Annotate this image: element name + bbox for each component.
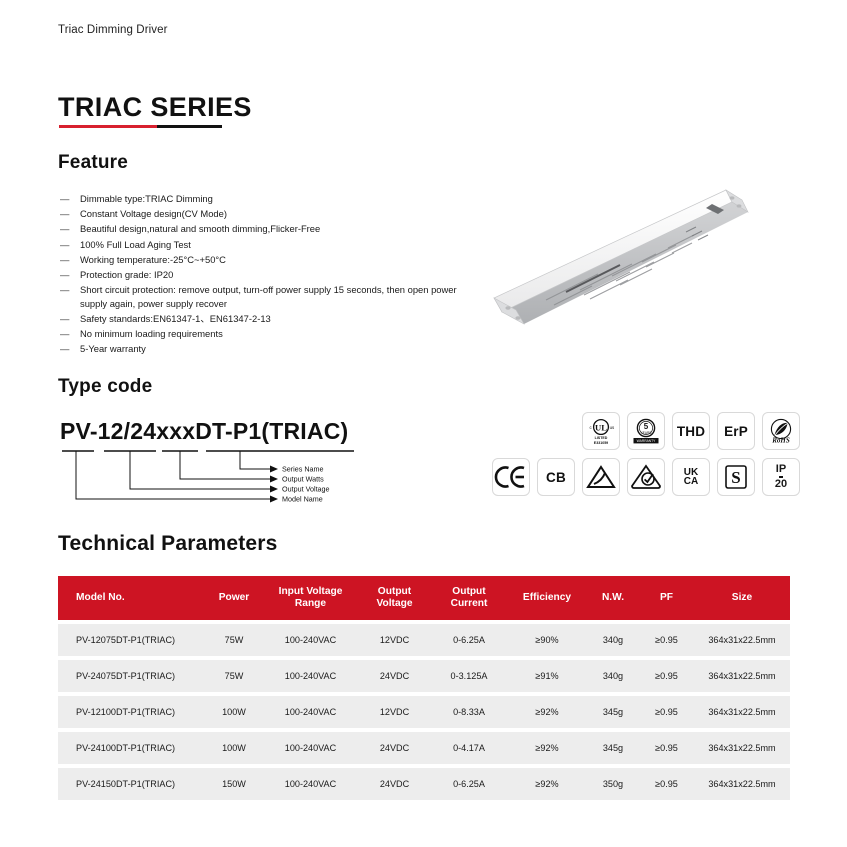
cell-power: 100W — [205, 696, 263, 728]
dash-bullet-icon: — — [60, 268, 80, 282]
feature-item-text: Constant Voltage design(CV Mode) — [80, 207, 480, 221]
cell-efficiency: ≥92% — [507, 768, 587, 800]
cell-input-voltage: 100-240VAC — [263, 624, 358, 656]
ul-listed-badge: UL c us LISTEDE331059 — [582, 412, 620, 450]
column-header-size: Size — [694, 576, 790, 620]
cell-power: 75W — [205, 660, 263, 692]
certification-row-1: UL c us LISTEDE331059 5 YEARS WARRANTY T… — [440, 412, 800, 450]
dash-bullet-icon: — — [60, 222, 80, 236]
column-header-power: Power — [205, 576, 263, 620]
dash-bullet-icon: — — [60, 238, 80, 252]
cell-input-voltage: 100-240VAC — [263, 732, 358, 764]
cell-model-no: PV-24075DT-P1(TRIAC) — [58, 660, 205, 692]
cell-pf: ≥0.95 — [639, 696, 694, 728]
feature-item-text: Protection grade: IP20 — [80, 268, 480, 282]
table-row: PV-12075DT-P1(TRIAC) 75W 100-240VAC 12VD… — [58, 624, 790, 656]
feature-list: —Dimmable type:TRIAC Dimming —Constant V… — [60, 192, 480, 357]
type-code-string: PV-12/24xxxDT-P1(TRIAC) — [60, 418, 348, 445]
title-underline-red — [59, 125, 157, 128]
cell-nw: 345g — [587, 732, 639, 764]
cell-output-voltage: 12VDC — [358, 624, 431, 656]
type-code-diagram: Series Name Output Watts Output Voltage … — [58, 448, 388, 514]
feature-item: —Beautiful design,natural and smooth dim… — [60, 222, 480, 236]
technical-parameters-heading: Technical Parameters — [58, 532, 278, 556]
table-row: PV-12100DT-P1(TRIAC) 100W 100-240VAC 12V… — [58, 696, 790, 728]
cell-model-no: PV-12075DT-P1(TRIAC) — [58, 624, 205, 656]
cell-output-voltage: 24VDC — [358, 660, 431, 692]
dash-bullet-icon: — — [60, 327, 80, 341]
feature-item: —100% Full Load Aging Test — [60, 238, 480, 252]
type-code-heading: Type code — [58, 376, 152, 398]
rcm-badge — [627, 458, 665, 496]
feature-item: —Constant Voltage design(CV Mode) — [60, 207, 480, 221]
five-year-warranty-badge: 5 YEARS WARRANTY — [627, 412, 665, 450]
table-header-row: Model No. Power Input Voltage Range Outp… — [58, 576, 790, 620]
table-row: PV-24150DT-P1(TRIAC) 150W 100-240VAC 24V… — [58, 768, 790, 800]
cell-output-current: 0-4.17A — [431, 732, 507, 764]
cell-input-voltage: 100-240VAC — [263, 696, 358, 728]
feature-item-text: Dimmable type:TRIAC Dimming — [80, 192, 480, 206]
cell-model-no: PV-24100DT-P1(TRIAC) — [58, 732, 205, 764]
svg-text:YEARS: YEARS — [641, 431, 652, 435]
feature-item: —Working temperature:-25°C~+50°C — [60, 253, 480, 267]
cell-efficiency: ≥92% — [507, 696, 587, 728]
dash-bullet-icon: — — [60, 253, 80, 267]
page-title: TRIAC SERIES — [58, 92, 252, 123]
feature-item-text: 5-Year warranty — [80, 342, 480, 356]
dash-bullet-icon: — — [60, 312, 80, 326]
cell-input-voltage: 100-240VAC — [263, 768, 358, 800]
cell-output-current: 0-8.33A — [431, 696, 507, 728]
ukca-line-2: CA — [684, 476, 698, 487]
svg-text:5: 5 — [644, 422, 649, 431]
cell-pf: ≥0.95 — [639, 732, 694, 764]
svg-text:RoHS: RoHS — [771, 436, 790, 444]
cell-size: 364x31x22.5mm — [694, 768, 790, 800]
table-row: PV-24075DT-P1(TRIAC) 75W 100-240VAC 24VD… — [58, 660, 790, 692]
cell-pf: ≥0.95 — [639, 624, 694, 656]
dash-bullet-icon: — — [60, 192, 80, 206]
feature-item-text: Safety standards:EN61347-1、EN61347-2-13 — [80, 312, 480, 326]
cell-size: 364x31x22.5mm — [694, 660, 790, 692]
cell-pf: ≥0.95 — [639, 660, 694, 692]
thd-badge: THD — [672, 412, 710, 450]
cell-output-voltage: 24VDC — [358, 768, 431, 800]
title-underline — [59, 125, 222, 128]
cell-size: 364x31x22.5mm — [694, 696, 790, 728]
cell-input-voltage: 100-240VAC — [263, 660, 358, 692]
column-header-output-current: Output Current — [431, 576, 507, 620]
cell-model-no: PV-24150DT-P1(TRIAC) — [58, 768, 205, 800]
feature-item-text: Working temperature:-25°C~+50°C — [80, 253, 480, 267]
cell-efficiency: ≥90% — [507, 624, 587, 656]
technical-parameters-table: Model No. Power Input Voltage Range Outp… — [58, 572, 790, 804]
cell-output-current: 0-6.25A — [431, 768, 507, 800]
svg-text:WARRANTY: WARRANTY — [637, 439, 657, 443]
feature-item-text: Short circuit protection: remove output,… — [80, 283, 480, 310]
cell-efficiency: ≥91% — [507, 660, 587, 692]
ul-badge-sublabel: LISTEDE331059 — [583, 436, 619, 445]
cell-power: 100W — [205, 732, 263, 764]
rohs-badge: RoHS — [762, 412, 800, 450]
svg-text:c: c — [590, 425, 593, 430]
ip-rating-value: 20 — [775, 479, 787, 490]
cell-power: 75W — [205, 624, 263, 656]
cell-output-current: 0-3.125A — [431, 660, 507, 692]
cell-output-current: 0-6.25A — [431, 624, 507, 656]
feature-item: —Safety standards:EN61347-1、EN61347-2-13 — [60, 312, 480, 326]
s-mark-badge: S — [717, 458, 755, 496]
type-code-callout-series-name: Series Name — [282, 465, 324, 474]
product-photo — [480, 172, 780, 332]
feature-item: —No minimum loading requirements — [60, 327, 480, 341]
cell-nw: 340g — [587, 660, 639, 692]
feature-item: —Short circuit protection: remove output… — [60, 283, 480, 310]
feature-item-text: 100% Full Load Aging Test — [80, 238, 480, 252]
type-code-callout-output-voltage: Output Voltage — [282, 485, 330, 494]
dash-bullet-icon: — — [60, 207, 80, 221]
table-row: PV-24100DT-P1(TRIAC) 100W 100-240VAC 24V… — [58, 732, 790, 764]
column-header-input-voltage: Input Voltage Range — [263, 576, 358, 620]
certification-badges: UL c us LISTEDE331059 5 YEARS WARRANTY T… — [440, 412, 800, 504]
column-header-model-no: Model No. — [58, 576, 205, 620]
type-code-callout-model-name: Model Name — [282, 495, 323, 504]
column-header-output-voltage: Output Voltage — [358, 576, 431, 620]
cell-power: 150W — [205, 768, 263, 800]
erp-badge: ErP — [717, 412, 755, 450]
dash-bullet-icon: — — [60, 342, 80, 356]
ip-rating-prefix: IP — [775, 464, 787, 475]
svg-text:UL: UL — [595, 422, 607, 432]
certification-row-2: CB UK CA S — [440, 458, 800, 496]
saa-badge — [582, 458, 620, 496]
cell-efficiency: ≥92% — [507, 732, 587, 764]
cell-nw: 340g — [587, 624, 639, 656]
cb-badge: CB — [537, 458, 575, 496]
dash-bullet-icon: — — [60, 283, 80, 297]
feature-item: —5-Year warranty — [60, 342, 480, 356]
column-header-pf: PF — [639, 576, 694, 620]
cell-pf: ≥0.95 — [639, 768, 694, 800]
feature-item-text: Beautiful design,natural and smooth dimm… — [80, 222, 480, 236]
column-header-efficiency: Efficiency — [507, 576, 587, 620]
page-header-label: Triac Dimming Driver — [58, 24, 168, 36]
ukca-badge: UK CA — [672, 458, 710, 496]
type-code-callout-output-watts: Output Watts — [282, 475, 324, 484]
ip20-badge: IP 20 — [762, 458, 800, 496]
cell-size: 364x31x22.5mm — [694, 624, 790, 656]
ce-badge — [492, 458, 530, 496]
feature-item-text: No minimum loading requirements — [80, 327, 480, 341]
cell-nw: 345g — [587, 696, 639, 728]
cell-output-voltage: 24VDC — [358, 732, 431, 764]
feature-heading: Feature — [58, 152, 128, 174]
cell-nw: 350g — [587, 768, 639, 800]
column-header-nw: N.W. — [587, 576, 639, 620]
cell-size: 364x31x22.5mm — [694, 732, 790, 764]
svg-text:us: us — [610, 425, 615, 430]
feature-item: —Protection grade: IP20 — [60, 268, 480, 282]
cell-model-no: PV-12100DT-P1(TRIAC) — [58, 696, 205, 728]
feature-item: —Dimmable type:TRIAC Dimming — [60, 192, 480, 206]
cell-output-voltage: 12VDC — [358, 696, 431, 728]
title-underline-black — [157, 125, 222, 128]
svg-text:S: S — [731, 468, 740, 487]
